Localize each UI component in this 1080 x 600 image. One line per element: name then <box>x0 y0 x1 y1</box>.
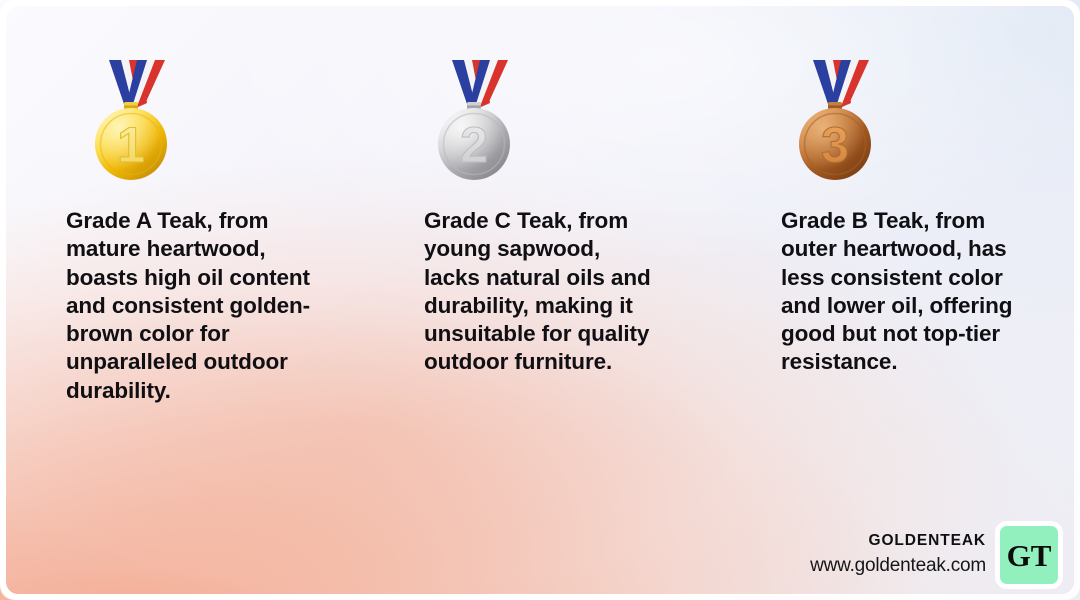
gold-medal-icon: 1 <box>91 58 171 182</box>
grade-description-3: Grade B Teak, from outer heartwood, has … <box>781 207 1021 377</box>
goldenteak-logo: GT <box>1000 526 1058 584</box>
brand-footer: GOLDENTEAK www.goldenteak.com GT <box>810 526 1058 584</box>
brand-text-block: GOLDENTEAK www.goldenteak.com <box>810 531 986 579</box>
bronze-medal-icon: 3 <box>795 58 875 182</box>
brand-url[interactable]: www.goldenteak.com <box>810 553 986 579</box>
medal-slot-2: 2 <box>434 58 514 182</box>
medal-slot-3: 3 <box>795 58 875 182</box>
infographic-canvas: 1 Grade A Teak, from mature heartwood, b… <box>0 0 1080 600</box>
svg-text:2: 2 <box>460 117 488 173</box>
columns-container: 1 Grade A Teak, from mature heartwood, b… <box>0 0 1080 600</box>
logo-monogram: GT <box>1007 540 1052 571</box>
medal-slot-1: 1 <box>91 58 171 182</box>
svg-text:3: 3 <box>821 117 849 173</box>
grade-description-2: Grade C Teak, from young sapwood, lacks … <box>424 207 654 377</box>
silver-medal-icon: 2 <box>434 58 514 182</box>
svg-text:1: 1 <box>117 117 145 173</box>
brand-name: GOLDENTEAK <box>869 531 987 551</box>
grade-description-1: Grade A Teak, from mature heartwood, boa… <box>66 207 318 405</box>
